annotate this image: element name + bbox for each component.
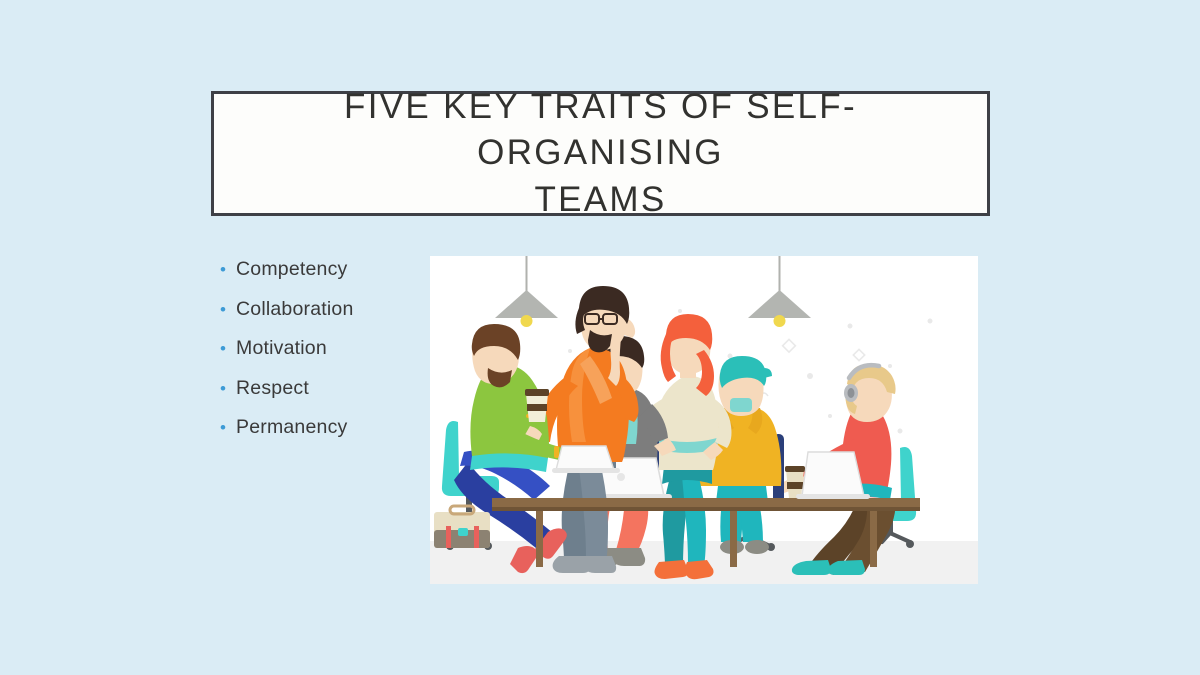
bullet-dot-icon: • (220, 340, 236, 357)
page-title: FIVE KEY TRAITS OF SELF-ORGANISING TEAMS (214, 84, 987, 224)
list-item: • Collaboration (220, 298, 425, 338)
bullet-label: Collaboration (236, 298, 354, 321)
list-item: • Respect (220, 377, 425, 417)
bullet-list: • Competency • Collaboration • Motivatio… (220, 258, 425, 456)
bullet-dot-icon: • (220, 419, 236, 436)
bullet-label: Competency (236, 258, 347, 281)
slide-title-box: FIVE KEY TRAITS OF SELF-ORGANISING TEAMS (211, 91, 990, 216)
bullet-dot-icon: • (220, 380, 236, 397)
team-collaboration-illustration (430, 256, 978, 584)
bullet-dot-icon: • (220, 261, 236, 278)
pendant-lamp-right (748, 256, 811, 327)
bullet-label: Permanency (236, 416, 347, 439)
slide-canvas: FIVE KEY TRAITS OF SELF-ORGANISING TEAMS… (0, 0, 1200, 675)
bullet-label: Respect (236, 377, 309, 400)
pendant-lamp-left (495, 256, 558, 327)
bullet-label: Motivation (236, 337, 327, 360)
illustration-artwork (430, 256, 978, 584)
list-item: • Competency (220, 258, 425, 298)
bullet-dot-icon: • (220, 301, 236, 318)
list-item: • Permanency (220, 416, 425, 456)
list-item: • Motivation (220, 337, 425, 377)
